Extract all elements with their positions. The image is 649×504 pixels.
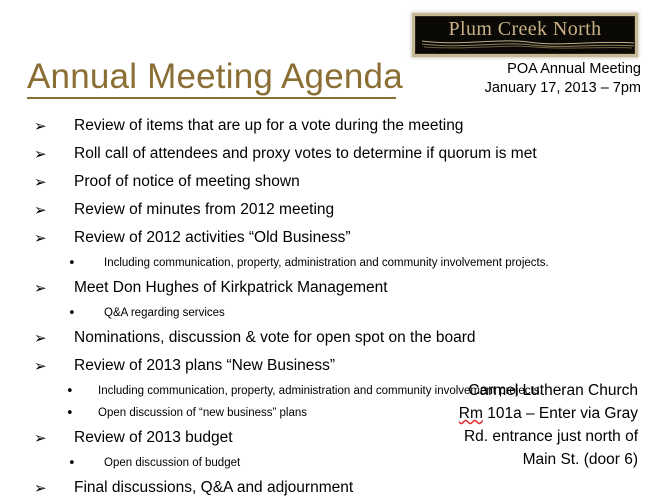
- agenda-item-label: Review of 2013 budget: [74, 426, 233, 449]
- logo-swash-decoration: [420, 38, 635, 50]
- agenda-subitem: •Q&A regarding services: [0, 304, 649, 326]
- agenda-item: ➢Meet Don Hughes of Kirkpatrick Manageme…: [0, 276, 649, 304]
- page-title: Annual Meeting Agenda: [27, 56, 403, 98]
- arrow-bullet-icon: ➢: [34, 277, 48, 299]
- agenda-item-label: Proof of notice of meeting shown: [74, 170, 300, 193]
- agenda-item-label: Review of items that are up for a vote d…: [74, 114, 463, 137]
- dot-bullet-icon: •: [66, 383, 74, 401]
- agenda-item-label: Review of 2013 plans “New Business”: [74, 354, 335, 377]
- arrow-bullet-icon: ➢: [34, 227, 48, 249]
- agenda-subitem-label: Q&A regarding services: [104, 304, 225, 323]
- agenda-item: ➢Proof of notice of meeting shown: [0, 170, 649, 198]
- arrow-bullet-icon: ➢: [34, 199, 48, 221]
- arrow-bullet-icon: ➢: [34, 115, 48, 137]
- agenda-item-label: Final discussions, Q&A and adjournment: [74, 476, 353, 499]
- agenda-item: ➢Roll call of attendees and proxy votes …: [0, 142, 649, 170]
- agenda-item: ➢Final discussions, Q&A and adjournment: [0, 476, 649, 504]
- logo-plate: Plum Creek North: [415, 16, 635, 54]
- agenda-item-label: Review of minutes from 2012 meeting: [74, 198, 334, 221]
- dot-bullet-icon: •: [66, 405, 74, 423]
- venue-address-block: Carmel Lutheran Church Rm 101a – Enter v…: [388, 379, 638, 471]
- agenda-item-label: Nominations, discussion & vote for open …: [74, 326, 476, 349]
- agenda-item: ➢Review of 2013 plans “New Business”: [0, 354, 649, 382]
- meeting-name: POA Annual Meeting: [485, 60, 641, 79]
- venue-line-2: Rm 101a – Enter via Gray: [388, 402, 638, 425]
- venue-line-4: Main St. (door 6): [388, 448, 638, 471]
- dot-bullet-icon: •: [68, 305, 76, 323]
- arrow-bullet-icon: ➢: [34, 327, 48, 349]
- plum-creek-north-logo: Plum Creek North: [412, 13, 638, 57]
- venue-line-3: Rd. entrance just north of: [388, 425, 638, 448]
- meeting-datetime: January 17, 2013 – 7pm: [485, 79, 641, 98]
- agenda-item-label: Review of 2012 activities “Old Business”: [74, 226, 351, 249]
- agenda-item: ➢Review of 2012 activities “Old Business…: [0, 226, 649, 254]
- dot-bullet-icon: •: [68, 455, 76, 473]
- arrow-bullet-icon: ➢: [34, 355, 48, 377]
- venue-line-2-rest: 101a – Enter via Gray: [483, 405, 638, 422]
- agenda-item: ➢Review of minutes from 2012 meeting: [0, 198, 649, 226]
- agenda-item: ➢Review of items that are up for a vote …: [0, 114, 649, 142]
- arrow-bullet-icon: ➢: [34, 477, 48, 499]
- agenda-subitem-label: Open discussion of budget: [104, 454, 240, 473]
- agenda-item-label: Roll call of attendees and proxy votes t…: [74, 142, 537, 165]
- arrow-bullet-icon: ➢: [34, 143, 48, 165]
- misspelled-word: Rm: [459, 405, 483, 422]
- arrow-bullet-icon: ➢: [34, 427, 48, 449]
- venue-line-1: Carmel Lutheran Church: [388, 379, 638, 402]
- agenda-subitem-label: Including communication, property, admin…: [104, 254, 549, 273]
- agenda-subitem-label: Open discussion of “new business” plans: [98, 404, 307, 423]
- agenda-subitem: •Including communication, property, admi…: [0, 254, 649, 276]
- agenda-item: ➢Nominations, discussion & vote for open…: [0, 326, 649, 354]
- title-underline: [27, 97, 396, 99]
- meeting-header-info: POA Annual Meeting January 17, 2013 – 7p…: [485, 60, 641, 98]
- arrow-bullet-icon: ➢: [34, 171, 48, 193]
- dot-bullet-icon: •: [68, 255, 76, 273]
- agenda-item-label: Meet Don Hughes of Kirkpatrick Managemen…: [74, 276, 388, 299]
